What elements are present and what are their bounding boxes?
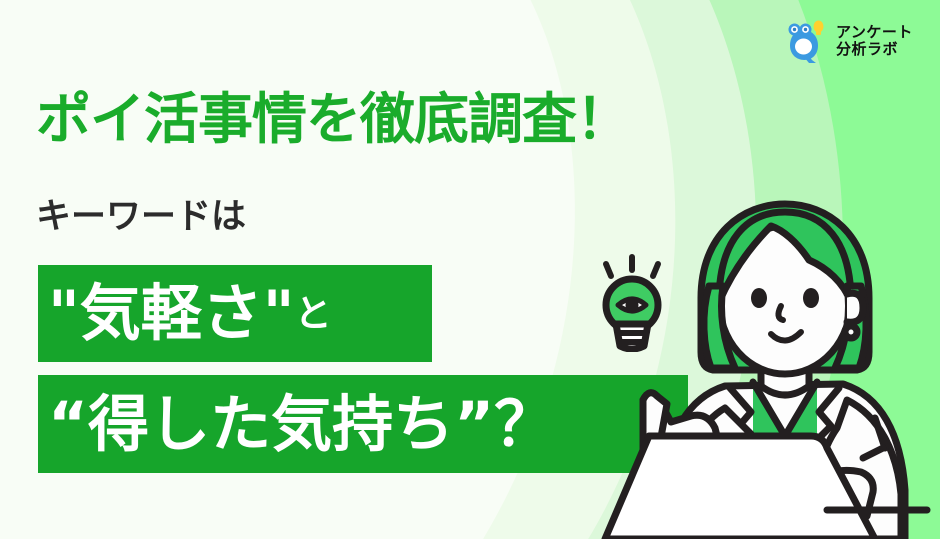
brand-logo[interactable]: アンケート 分析ラボ <box>783 16 935 66</box>
page-title: ポイ活事情を徹底調査！ <box>36 92 630 147</box>
keyword-band-one-text: "気軽さ" <box>48 283 295 344</box>
brand-logo-line1: アンケート <box>836 24 913 41</box>
anke-to-lab-mascot-icon <box>783 18 829 64</box>
hero-banner: アンケート 分析ラボ ポイ活事情を徹底調査！ キーワードは "気軽さ" と “得… <box>0 0 940 539</box>
brand-logo-text: アンケート 分析ラボ <box>836 24 913 58</box>
page-subtitle: キーワードは <box>36 200 246 235</box>
keyword-band-one: "気軽さ" と <box>38 265 432 362</box>
keyword-band-one-suffix: と <box>295 295 332 332</box>
brand-logo-line2: 分析ラボ <box>836 41 913 58</box>
keyword-band-two-text: “得した気持ち”？ <box>48 394 555 455</box>
woman-researcher-with-laptop <box>575 190 940 539</box>
